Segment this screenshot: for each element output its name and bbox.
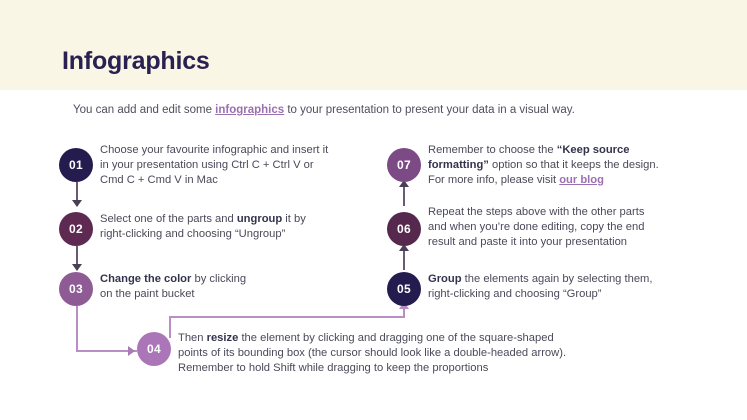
step-04-line-2: points of its bounding box (the cursor s… (178, 346, 618, 361)
step-05-number[interactable]: 05 (387, 272, 421, 306)
step-01-line-3: Cmd C + Cmd V in Mac (100, 173, 385, 188)
step-07-text: Remember to choose the “Keep source form… (428, 143, 728, 188)
step-01-text: Choose your favourite infographic and in… (100, 143, 385, 188)
step-01-line-2: in your presentation using Ctrl C + Ctrl… (100, 158, 385, 173)
step-04-text: Then resize the element by clicking and … (178, 331, 618, 376)
step-01-line-1: Choose your favourite infographic and in… (100, 143, 385, 158)
intro-text: You can add and edit some infographics t… (73, 103, 575, 119)
connector-04-05-horizontal (169, 316, 405, 318)
infographics-slide: Infographics You can add and edit some i… (0, 0, 747, 420)
intro-text-after: to your presentation to present your dat… (284, 104, 575, 116)
page-title: Infographics (62, 49, 210, 74)
arrow-03-04 (128, 346, 135, 356)
step-07-line-2: formatting” option so that it keeps the … (428, 158, 728, 173)
step-04-number[interactable]: 04 (137, 332, 171, 366)
intro-text-before: You can add and edit some (73, 104, 215, 116)
step-04-line-1: Then resize the element by clicking and … (178, 331, 618, 346)
step-03-line-1: Change the color by clicking (100, 272, 385, 287)
step-07-number[interactable]: 07 (387, 148, 421, 182)
step-06-line-1: Repeat the steps above with the other pa… (428, 205, 728, 220)
step-07-line-3: For more info, please visit our blog (428, 173, 728, 188)
header-band (0, 0, 747, 90)
step-02-line-2: right-clicking and choosing “Ungroup” (100, 227, 385, 242)
step-02-line-1: Select one of the parts and ungroup it b… (100, 212, 385, 227)
step-02-text: Select one of the parts and ungroup it b… (100, 212, 385, 242)
step-06-line-3: result and paste it into your presentati… (428, 235, 728, 250)
connector-04-05-vertical-right (403, 308, 405, 318)
step-03-text: Change the color by clicking on the pain… (100, 272, 385, 302)
step-07-line-1: Remember to choose the “Keep source (428, 143, 728, 158)
step-06-number[interactable]: 06 (387, 212, 421, 246)
infographics-link[interactable]: infographics (215, 104, 284, 116)
connector-03-04-vertical (76, 306, 78, 352)
our-blog-link[interactable]: our blog (559, 174, 604, 186)
step-01-number[interactable]: 01 (59, 148, 93, 182)
step-06-line-2: and when you’re done editing, copy the e… (428, 220, 728, 235)
step-05-line-1: Group the elements again by selecting th… (428, 272, 728, 287)
step-03-number[interactable]: 03 (59, 272, 93, 306)
step-06-text: Repeat the steps above with the other pa… (428, 205, 728, 250)
step-02-number[interactable]: 02 (59, 212, 93, 246)
step-05-text: Group the elements again by selecting th… (428, 272, 728, 302)
step-05-line-2: right-clicking and choosing “Group” (428, 287, 728, 302)
connector-04-05-vertical-left (169, 316, 171, 338)
arrow-01-02 (72, 200, 82, 207)
step-03-line-2: on the paint bucket (100, 287, 385, 302)
step-04-line-3: Remember to hold Shift while dragging to… (178, 361, 618, 376)
arrow-02-03 (72, 264, 82, 271)
